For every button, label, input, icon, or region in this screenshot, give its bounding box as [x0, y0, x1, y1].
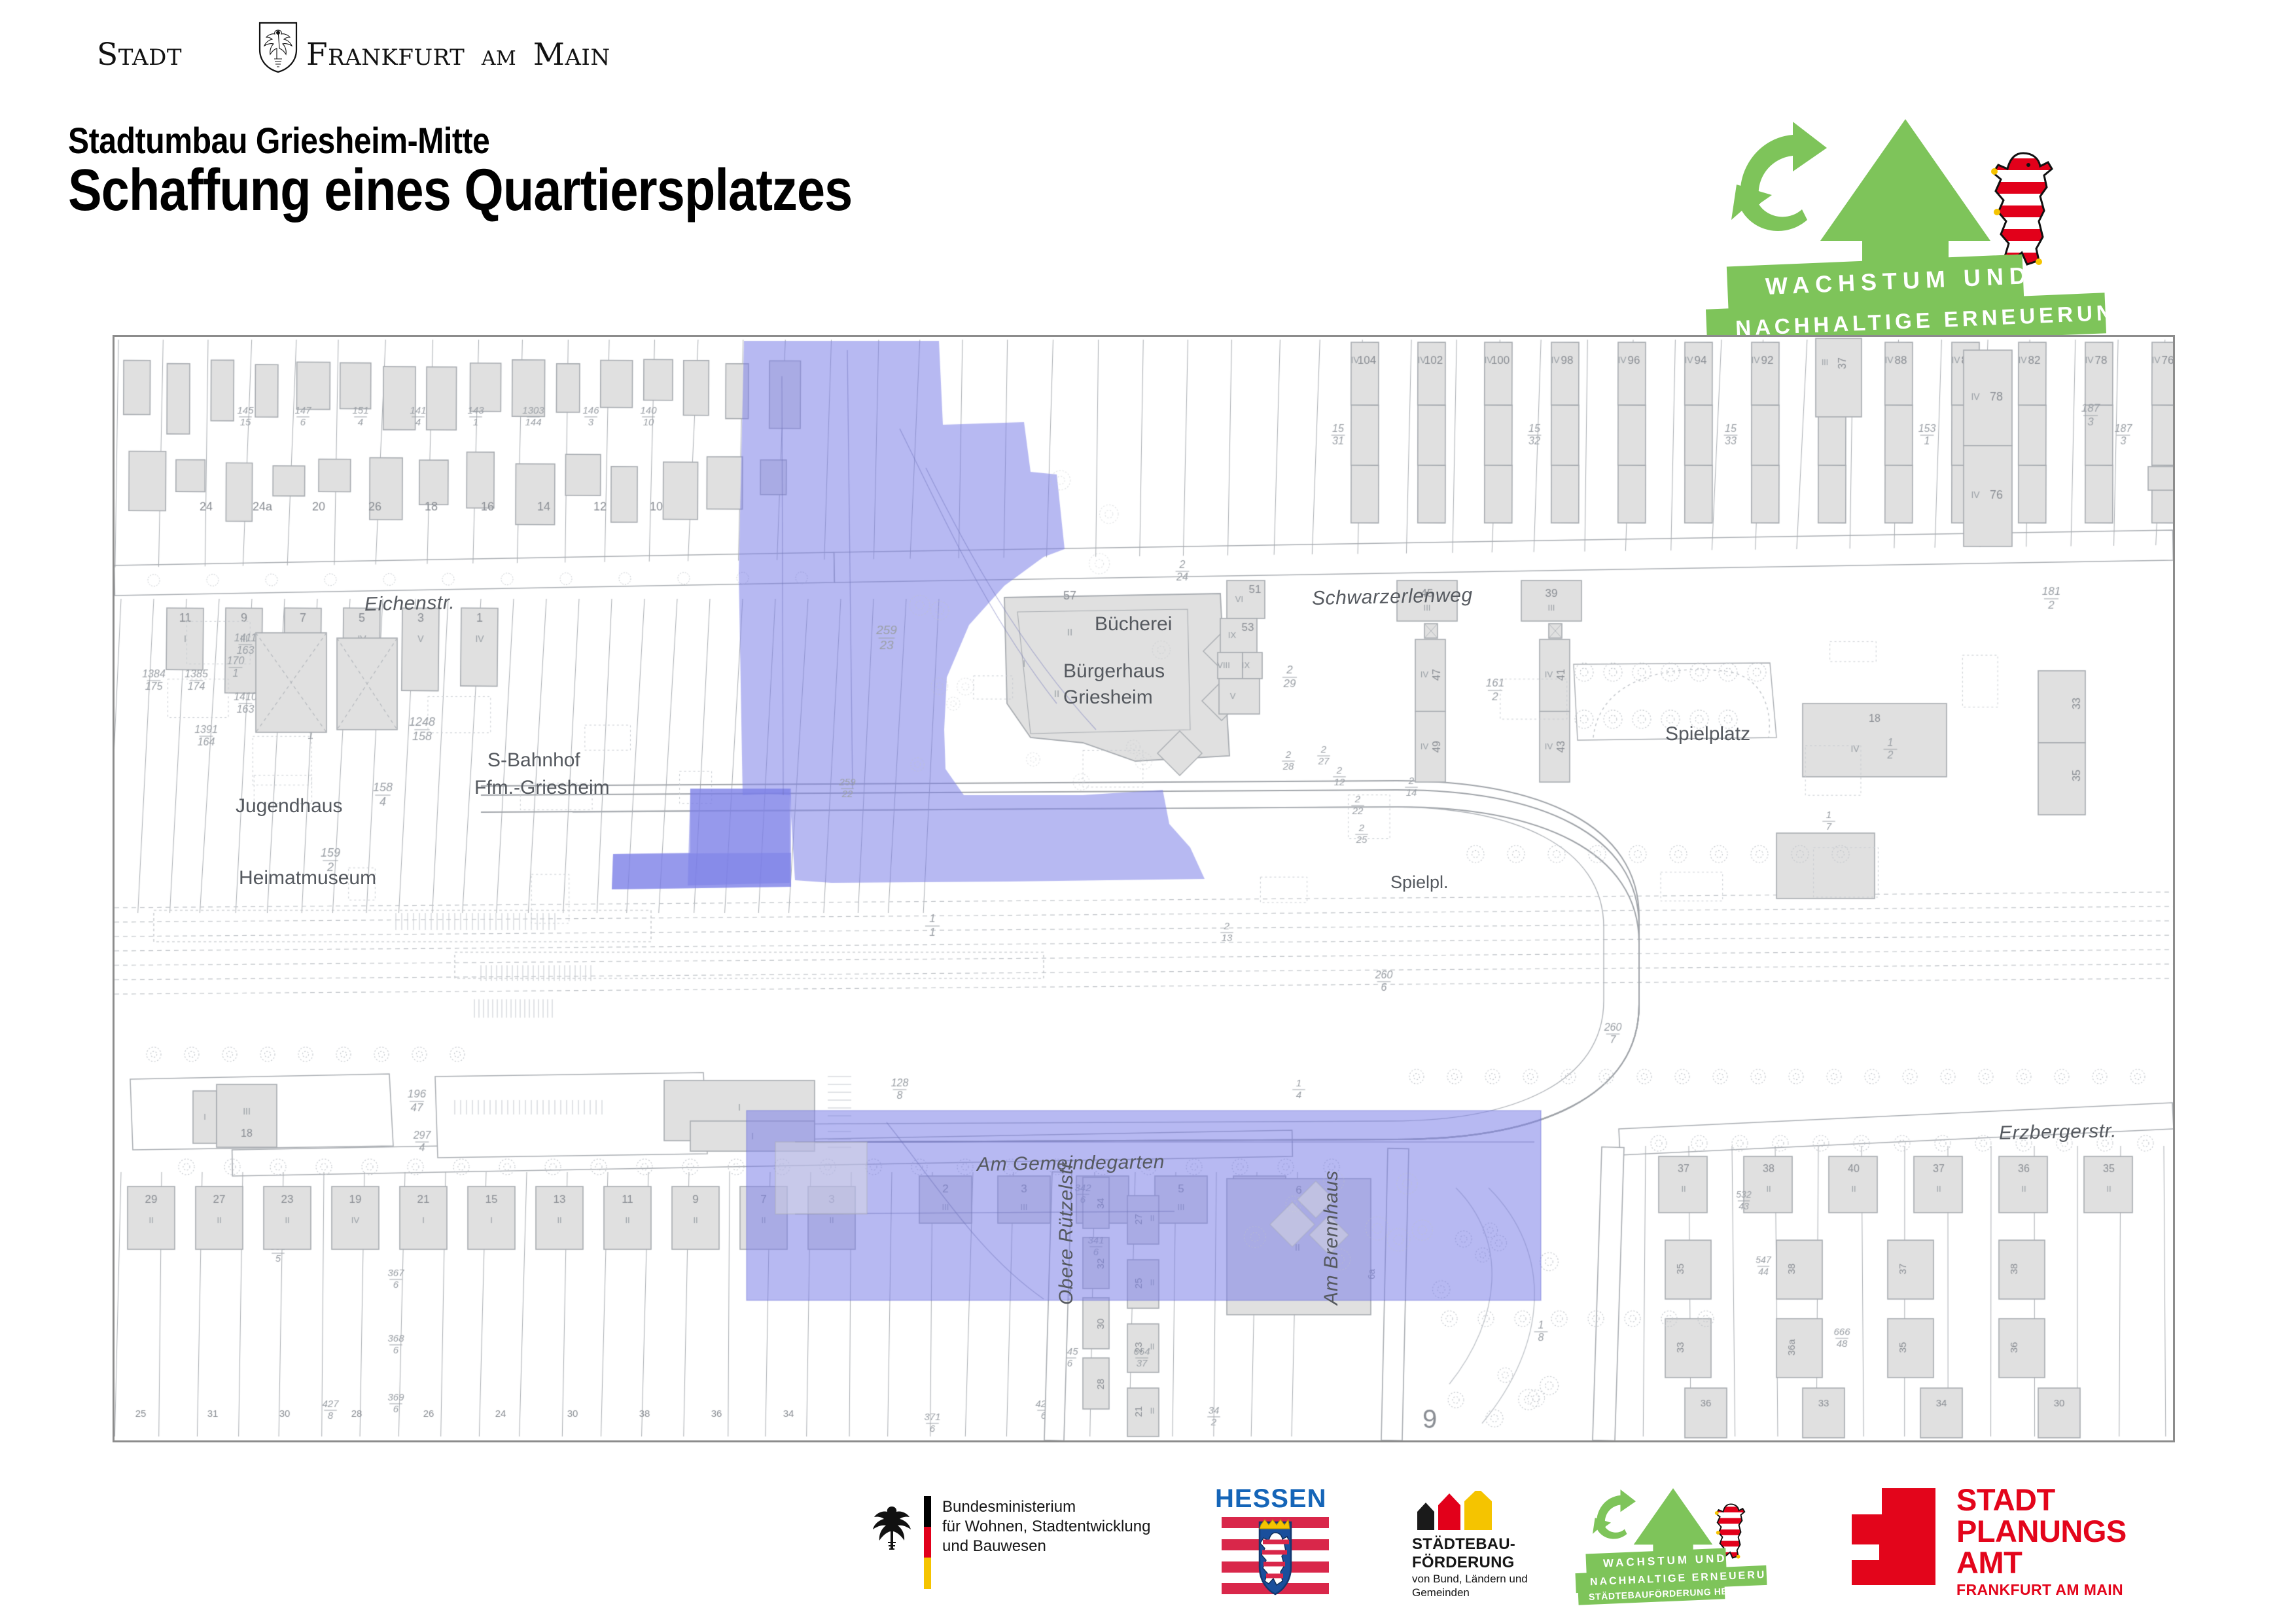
staedtebau-sub2: Gemeinden [1412, 1586, 1528, 1599]
hessen-logo: HESSEN [1214, 1484, 1338, 1597]
three-houses-icon [1412, 1491, 1510, 1530]
cadastral-map[interactable]: Eichenstr.SchwarzerlenwegAm Gemeindegart… [113, 335, 2175, 1442]
page-header: STADT FRANKFURT AM MAIN Stadtumbau Gries… [0, 0, 2296, 327]
flag-stripe-gold [924, 1558, 931, 1589]
bmwsb-logo: Bundesministerium für Wohnen, Stadtentwi… [870, 1493, 1178, 1592]
bmwsb-line3: und Bauwesen [942, 1537, 1150, 1556]
spa-line-3: AMT [1956, 1547, 2127, 1578]
hessen-wordmark: HESSEN [1215, 1484, 1327, 1514]
hessen-coat-of-arms-icon [1222, 1516, 1329, 1596]
city-logo-word-stadt: STADT [97, 37, 182, 73]
spa-line-1: STADT [1956, 1484, 2127, 1516]
program-logo-footer: WACHSTUM UND NACHHALTIGE ERNEUERUNG STÄD… [1583, 1487, 1799, 1595]
page-title: Schaffung eines Quartiersplatzes [68, 157, 852, 224]
staedtebau-line2: FÖRDERUNG [1412, 1554, 1515, 1572]
flag-stripe-black [924, 1496, 931, 1527]
map-drawing-surface [115, 337, 2173, 1440]
city-logo-word-frankfurt: FRANKFURT AM MAIN [306, 37, 610, 73]
spa-subline: FRANKFURT AM MAIN [1956, 1581, 2123, 1599]
staedtebaufoerderung-logo: STÄDTEBAU- FÖRDERUNG von Bund, Ländern u… [1400, 1491, 1551, 1596]
staedtebau-line1: STÄDTEBAU- [1412, 1535, 1515, 1554]
program-logo-line1: WACHSTUM UND [1765, 262, 2024, 300]
bmwsb-line2: für Wohnen, Stadtentwicklung [942, 1517, 1150, 1537]
page-subtitle: Stadtumbau Griesheim-Mitte [68, 119, 489, 162]
bmwsb-line1: Bundesministerium [942, 1497, 1150, 1517]
bundesadler-icon [870, 1504, 913, 1554]
spa-line-2: PLANUNGS [1956, 1516, 2127, 1547]
stadtplanungsamt-block-mark-icon [1852, 1488, 1935, 1585]
city-of-frankfurt-logo: STADT FRANKFURT AM MAIN [97, 31, 516, 82]
staedtebau-sub1: von Bund, Ländern und [1412, 1572, 1528, 1586]
hessen-lion-icon [1984, 148, 2062, 271]
flag-stripe-red [924, 1527, 931, 1558]
frankfurt-eagle-crest-icon [258, 21, 298, 73]
stadtplanungsamt-logo: STADT PLANUNGS AMT FRANKFURT AM MAIN [1852, 1484, 2192, 1596]
